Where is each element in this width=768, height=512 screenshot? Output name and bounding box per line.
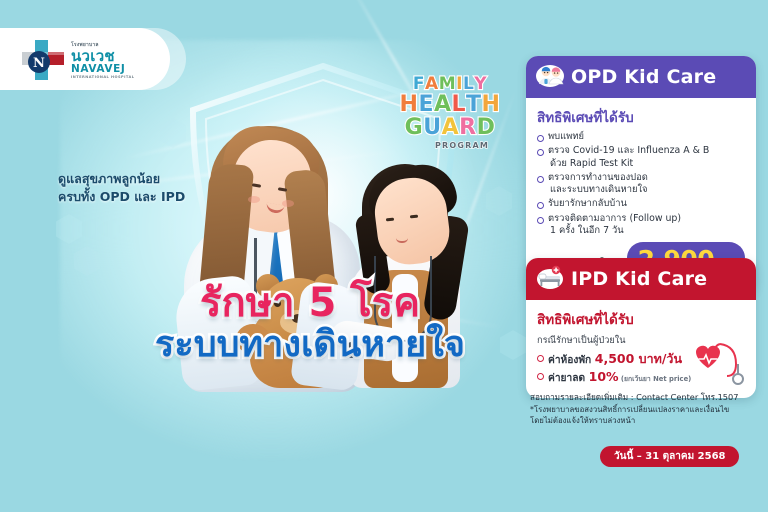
hospital-logo: N โรงพยาบาล นวเวช NAVAVEJ INTERNATIONAL …	[22, 40, 134, 80]
heart-stethoscope-icon	[676, 336, 748, 392]
two-doctors-icon	[536, 63, 564, 91]
opd-benefit-item: ตรวจ Covid-19 และ Influenza A & Bด้วย Ra…	[537, 145, 745, 170]
ipd-benefit-value: 4,500 บาท/วัน	[595, 351, 682, 366]
opd-benefit-text: ตรวจ Covid-19 และ Influenza A & B	[548, 145, 709, 156]
program-letter: D	[477, 117, 496, 139]
fineprint-disclaimer-1: *โรงพยาบาลขอสงวนสิทธิ์การเปลี่ยนแปลงราคา…	[530, 404, 762, 415]
opd-benefit-text: ตรวจการทำงานของปอด	[548, 172, 648, 183]
lede-text: ดูแลสุขภาพลูกน้อย ครบทั้ง OPD และ IPD	[58, 170, 185, 206]
opd-benefit-item: รับยารักษากลับบ้าน	[537, 198, 745, 211]
ipd-benefits-heading: สิทธิพิเศษที่ได้รับ	[537, 308, 745, 330]
opd-benefit-text: ตรวจติดตามอาการ (Follow up)	[548, 213, 681, 224]
program-letter: I	[456, 76, 463, 93]
program-letter: F	[413, 76, 425, 93]
program-letter: H	[400, 94, 419, 116]
ipd-card-body: สิทธิพิเศษที่ได้รับ กรณีรักษาเป็นผู้ป่วย…	[526, 300, 756, 398]
hospital-bed-icon	[536, 265, 564, 293]
family-health-guard-logo: FAMILY HEALTH GUARD PROGRAM	[394, 76, 506, 150]
program-letter: H	[482, 94, 501, 116]
ipd-benefit-label: ค่ายาลด	[548, 373, 589, 384]
program-letter: Y	[474, 76, 487, 93]
program-line-1: FAMILY	[394, 76, 506, 93]
program-line-3: GUARD	[394, 117, 506, 139]
opd-benefit-item: ตรวจติดตามอาการ (Follow up)1 ครั้ง ในอีก…	[537, 213, 745, 238]
program-letter: G	[405, 117, 424, 139]
headline-line-2: ระบบทางเดินหายใจ	[105, 326, 515, 364]
logo-thai-name: นวเวช	[71, 49, 134, 64]
fineprint-disclaimer-2: โดยไม่ต้องแจ้งให้ทราบล่วงหน้า	[530, 415, 762, 426]
program-letter: R	[459, 117, 476, 139]
opd-benefit-text: พบแพทย์	[548, 131, 584, 142]
opd-benefits-heading: สิทธิพิเศษที่ได้รับ	[537, 106, 745, 128]
program-letter: A	[425, 76, 439, 93]
opd-benefits-list: พบแพทย์ตรวจ Covid-19 และ Influenza A & B…	[537, 131, 745, 238]
program-letter: T	[466, 94, 482, 116]
program-letter: M	[439, 76, 456, 93]
program-letter: L	[452, 94, 467, 116]
lede-line-1: ดูแลสุขภาพลูกน้อย	[58, 170, 185, 188]
opd-benefit-text: รับยารักษากลับบ้าน	[548, 198, 627, 209]
program-letter: A	[442, 117, 460, 139]
validity-date-badge: วันนี้ – 31 ตุลาคม 2568	[600, 446, 739, 467]
program-line-2: HEALTH	[394, 94, 506, 116]
lede-line-2: ครบทั้ง OPD และ IPD	[58, 188, 185, 206]
fineprint: สอบถามรายละเอียดเพิ่มเติม : Contact Cent…	[530, 392, 762, 426]
opd-benefit-continuation: และระบบทางเดินหายใจ	[548, 184, 745, 197]
program-letter: E	[418, 94, 434, 116]
logo-subtitle: INTERNATIONAL HOSPITAL	[71, 75, 134, 79]
ipd-kid-care-card[interactable]: IPD Kid Care สิทธิพิเศษที่ได้รับ กรณีรัก…	[526, 258, 756, 398]
promotional-banner: N โรงพยาบาล นวเวช NAVAVEJ INTERNATIONAL …	[0, 0, 768, 512]
program-letter: L	[463, 76, 474, 93]
ipd-benefit-label: ค่าห้องพัก	[548, 355, 595, 366]
ipd-card-header: IPD Kid Care	[526, 258, 756, 300]
ipd-benefit-value: 10%	[589, 369, 619, 384]
fineprint-contact: สอบถามรายละเอียดเพิ่มเติม : Contact Cent…	[530, 392, 762, 404]
opd-card-header: OPD Kid Care	[526, 56, 756, 98]
opd-benefit-item: ตรวจการทำงานของปอดและระบบทางเดินหายใจ	[537, 172, 745, 197]
logo-english-name: NAVAVEJ	[71, 64, 134, 75]
headline: รักษา 5 โรค ระบบทางเดินหายใจ	[105, 283, 515, 364]
program-letter: A	[434, 94, 452, 116]
opd-benefit-continuation: ด้วย Rapid Test Kit	[548, 158, 745, 171]
navavej-cross-logo: N	[22, 40, 64, 80]
headline-line-1: รักษา 5 โรค	[105, 283, 515, 324]
program-letter: U	[423, 117, 441, 139]
opd-benefit-item: พบแพทย์	[537, 131, 745, 144]
svg-text:N: N	[33, 56, 45, 71]
program-tagline: PROGRAM	[418, 141, 506, 150]
opd-benefit-continuation: 1 ครั้ง ในอีก 7 วัน	[548, 225, 745, 238]
opd-card-title: OPD Kid Care	[571, 66, 716, 88]
ipd-card-title: IPD Kid Care	[571, 268, 707, 290]
